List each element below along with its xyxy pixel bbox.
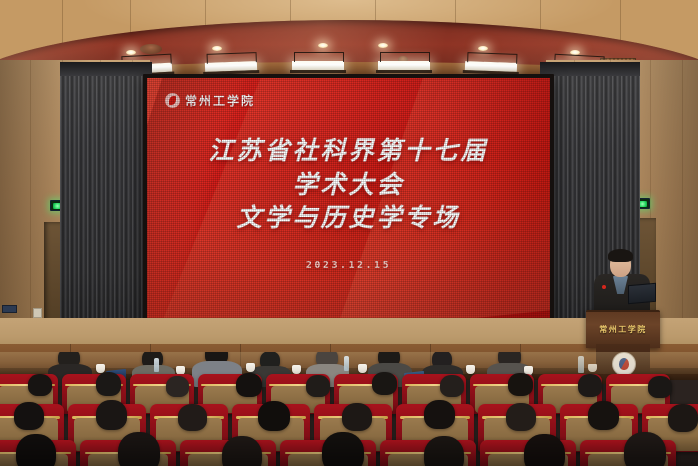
- audience-head: [236, 373, 262, 397]
- audience-head: [524, 434, 565, 466]
- stage-light-3: [292, 61, 344, 70]
- audience-head: [258, 401, 290, 431]
- audience-head: [508, 373, 533, 396]
- audience-head: [118, 432, 160, 466]
- audience-head: [648, 376, 672, 398]
- downlight-3: [318, 43, 328, 48]
- podium-label: 常州工学院: [586, 324, 660, 335]
- auditorium-scene: 常州工学院 江苏省社科界第十七届 学术大会 文学与历史学专场 2023.12.1…: [0, 0, 698, 466]
- audience-head: [178, 404, 207, 431]
- tea-cup: [358, 364, 367, 373]
- audience-head: [440, 375, 464, 397]
- tea-cup: [292, 365, 301, 374]
- audience-head: [506, 403, 536, 431]
- audience-head: [96, 372, 121, 396]
- wall-socket-plate[interactable]: [2, 305, 17, 313]
- audience-head: [166, 376, 189, 397]
- audience-head: [342, 403, 372, 431]
- wall-switch-plate[interactable]: [33, 308, 42, 318]
- stage-light-2: [205, 61, 257, 72]
- audience-head: [588, 401, 619, 430]
- downlight-1: [126, 50, 136, 55]
- tea-cup: [466, 365, 475, 374]
- audience-head: [96, 400, 127, 430]
- audience-head: [222, 436, 262, 466]
- downlight-5: [478, 46, 488, 51]
- audience-head: [16, 434, 56, 466]
- audience-area: [0, 352, 698, 466]
- downlight-2: [212, 46, 222, 51]
- audience-head: [306, 375, 330, 397]
- screen-vignette: [147, 78, 550, 318]
- speaker-lapel-pin: [602, 285, 606, 289]
- audience-head: [578, 374, 602, 397]
- downlight-4: [378, 43, 388, 48]
- audience-head: [28, 374, 52, 396]
- stage-light-4: [378, 61, 430, 70]
- water-bottle: [154, 358, 159, 372]
- ceiling-speaker-left: [140, 44, 162, 54]
- audience-head: [14, 402, 44, 430]
- audience-head: [322, 432, 364, 466]
- led-screen[interactable]: 常州工学院 江苏省社科界第十七届 学术大会 文学与历史学专场 2023.12.1…: [147, 78, 550, 318]
- stage-light-5: [465, 61, 517, 72]
- audience-head: [424, 400, 455, 429]
- podium-laptop[interactable]: [628, 283, 656, 304]
- water-bottle: [344, 356, 349, 371]
- podium-lectern: 常州工学院: [586, 310, 660, 348]
- audience-head: [668, 404, 698, 432]
- stage-curtain-left: [60, 62, 152, 362]
- audience-head: [424, 436, 464, 466]
- audience-head: [624, 432, 666, 466]
- audience-head: [372, 372, 397, 395]
- tea-cup: [246, 363, 255, 372]
- speaker-hair: [608, 249, 633, 262]
